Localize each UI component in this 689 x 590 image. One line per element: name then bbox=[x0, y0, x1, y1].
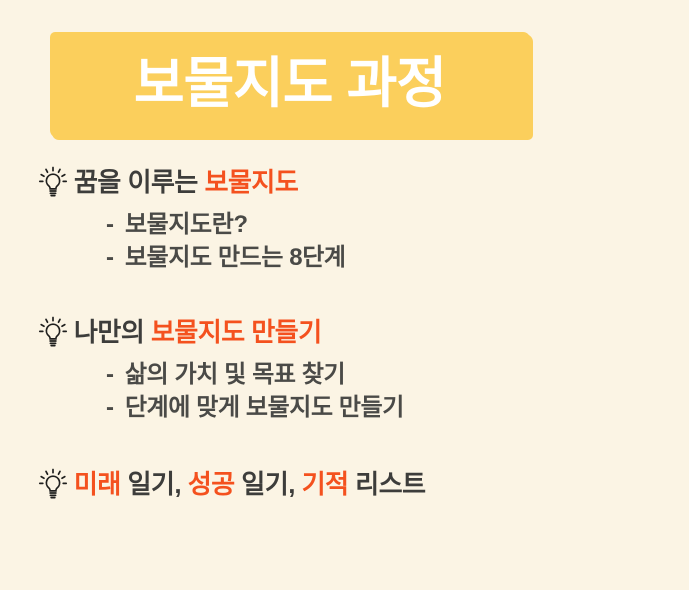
headline-seg-5: 기적 bbox=[302, 469, 349, 499]
bullet-headline-text-1: 꿈을 이루는 보물지도 bbox=[74, 169, 298, 195]
headline-seg-3: 성공 bbox=[188, 469, 235, 499]
lightbulb-icon bbox=[38, 468, 68, 500]
bullet-headline-1: 꿈을 이루는 보물지도 bbox=[0, 160, 689, 204]
headline-seg-6: 리스트 bbox=[349, 469, 426, 499]
bullet-block-1: 꿈을 이루는 보물지도 - 보물지도란? - 보물지도 만드는 8단계 bbox=[0, 160, 689, 270]
list-item-label: 보물지도 만드는 8단계 bbox=[125, 246, 346, 270]
title-banner: 보물지도 과정 bbox=[50, 32, 530, 138]
headline-seg-2: 일기, bbox=[121, 469, 188, 499]
headline-accent-1: 보물지도 bbox=[205, 167, 299, 197]
list-item: - 단계에 맞게 보물지도 만들기 bbox=[0, 396, 689, 420]
bullet-headline-3: 미래 일기, 성공 일기, 기적 리스트 bbox=[0, 462, 689, 506]
dash-marker: - bbox=[106, 246, 114, 270]
list-item: - 보물지도란? bbox=[0, 213, 689, 237]
content-body: 꿈을 이루는 보물지도 - 보물지도란? - 보물지도 만드는 8단계 bbox=[0, 160, 689, 520]
headline-accent-2: 보물지도 만들기 bbox=[151, 317, 322, 347]
headline-seg-4: 일기, bbox=[235, 469, 302, 499]
list-item-label: 보물지도란? bbox=[125, 213, 248, 237]
bullet-headline-text-2: 나만의 보물지도 만들기 bbox=[74, 319, 322, 345]
lightbulb-icon bbox=[38, 166, 68, 198]
headline-plain-2: 나만의 bbox=[74, 317, 151, 347]
list-item-label: 삶의 가치 및 목표 찾기 bbox=[125, 363, 345, 387]
list-item: - 보물지도 만드는 8단계 bbox=[0, 246, 689, 270]
dash-marker: - bbox=[106, 213, 114, 237]
headline-plain-1: 꿈을 이루는 bbox=[74, 167, 205, 197]
bullet-block-3: 미래 일기, 성공 일기, 기적 리스트 bbox=[0, 462, 689, 506]
bullet-headline-text-3: 미래 일기, 성공 일기, 기적 리스트 bbox=[74, 471, 426, 497]
page-title: 보물지도 과정 bbox=[134, 56, 446, 115]
slide-root: 보물지도 과정 bbox=[0, 0, 689, 590]
lightbulb-icon bbox=[38, 316, 68, 348]
bullet-block-2: 나만의 보물지도 만들기 - 삶의 가치 및 목표 찾기 - 단계에 맞게 보물… bbox=[0, 310, 689, 420]
list-item: - 삶의 가치 및 목표 찾기 bbox=[0, 363, 689, 387]
list-item-label: 단계에 맞게 보물지도 만들기 bbox=[125, 396, 404, 420]
dash-marker: - bbox=[106, 363, 114, 387]
headline-seg-1: 미래 bbox=[74, 469, 121, 499]
bullet-headline-2: 나만의 보물지도 만들기 bbox=[0, 310, 689, 354]
dash-marker: - bbox=[106, 396, 114, 420]
